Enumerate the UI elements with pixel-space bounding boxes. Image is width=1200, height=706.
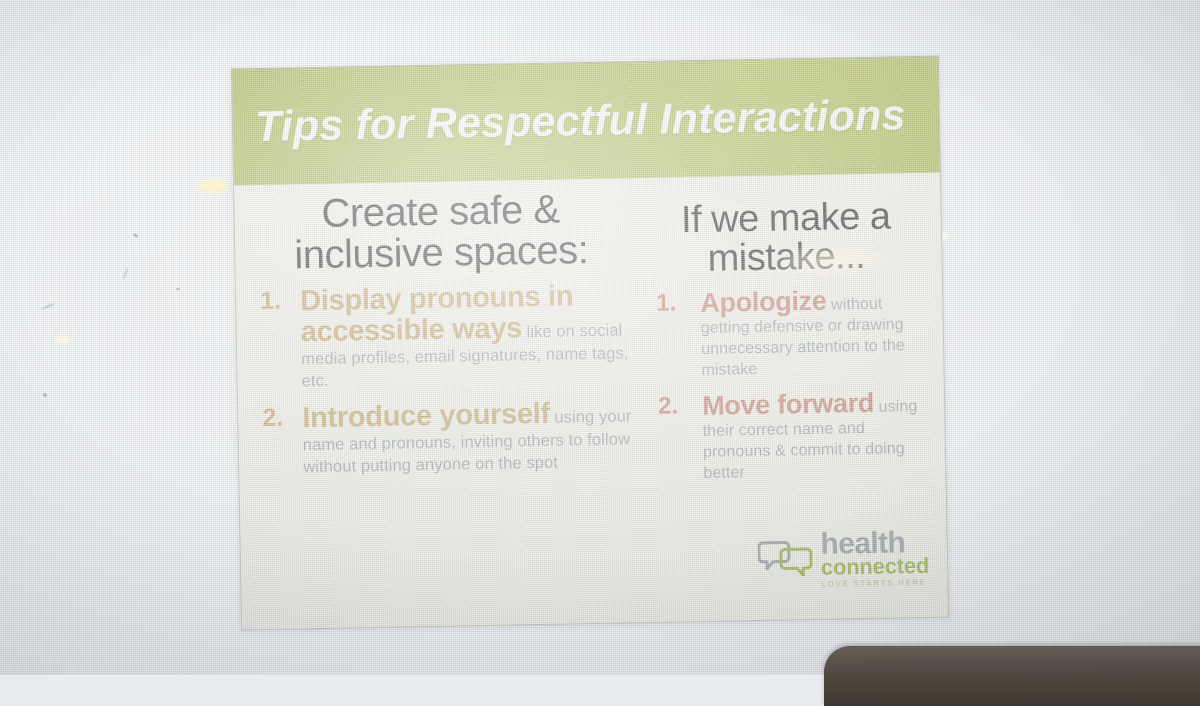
tip-number: 2. — [652, 391, 703, 420]
tip-number: 2. — [256, 403, 303, 433]
presentation-slide: Tips for Respectful Interactions Create … — [231, 56, 949, 631]
foreground-dark-object — [824, 646, 1200, 706]
column-heading-right: If we make a mistake... — [648, 197, 923, 280]
slide-header-band: Tips for Respectful Interactions — [232, 57, 940, 186]
tip-item: 1. Display pronouns in accessible ways l… — [254, 280, 632, 394]
health-connected-logo: health connected LOVE STARTS HERE — [757, 528, 929, 590]
speech-bubbles-icon — [757, 538, 814, 582]
logo-word-connected: connected — [821, 555, 930, 579]
tip-title: Move forward — [702, 387, 874, 420]
tip-number: 1. — [650, 288, 701, 317]
tip-item: 2. Introduce yourself using your name an… — [256, 397, 633, 479]
tips-list-left: 1. Display pronouns in accessible ways l… — [254, 280, 633, 480]
tips-list-right: 1. Apologize without getting defensive o… — [650, 284, 928, 485]
column-create-safe-spaces: Create safe & inclusive spaces: 1. Displ… — [252, 188, 642, 629]
column-heading-left: Create safe & inclusive spaces: — [252, 188, 629, 276]
tip-title: Introduce yourself — [302, 398, 550, 435]
tip-item: 2. Move forward using their correct name… — [652, 387, 928, 485]
slide-title: Tips for Respectful Interactions — [255, 91, 907, 152]
tip-number: 1. — [254, 286, 301, 316]
tip-item: 1. Apologize without getting defensive o… — [650, 284, 926, 382]
tip-title: Apologize — [700, 285, 827, 317]
